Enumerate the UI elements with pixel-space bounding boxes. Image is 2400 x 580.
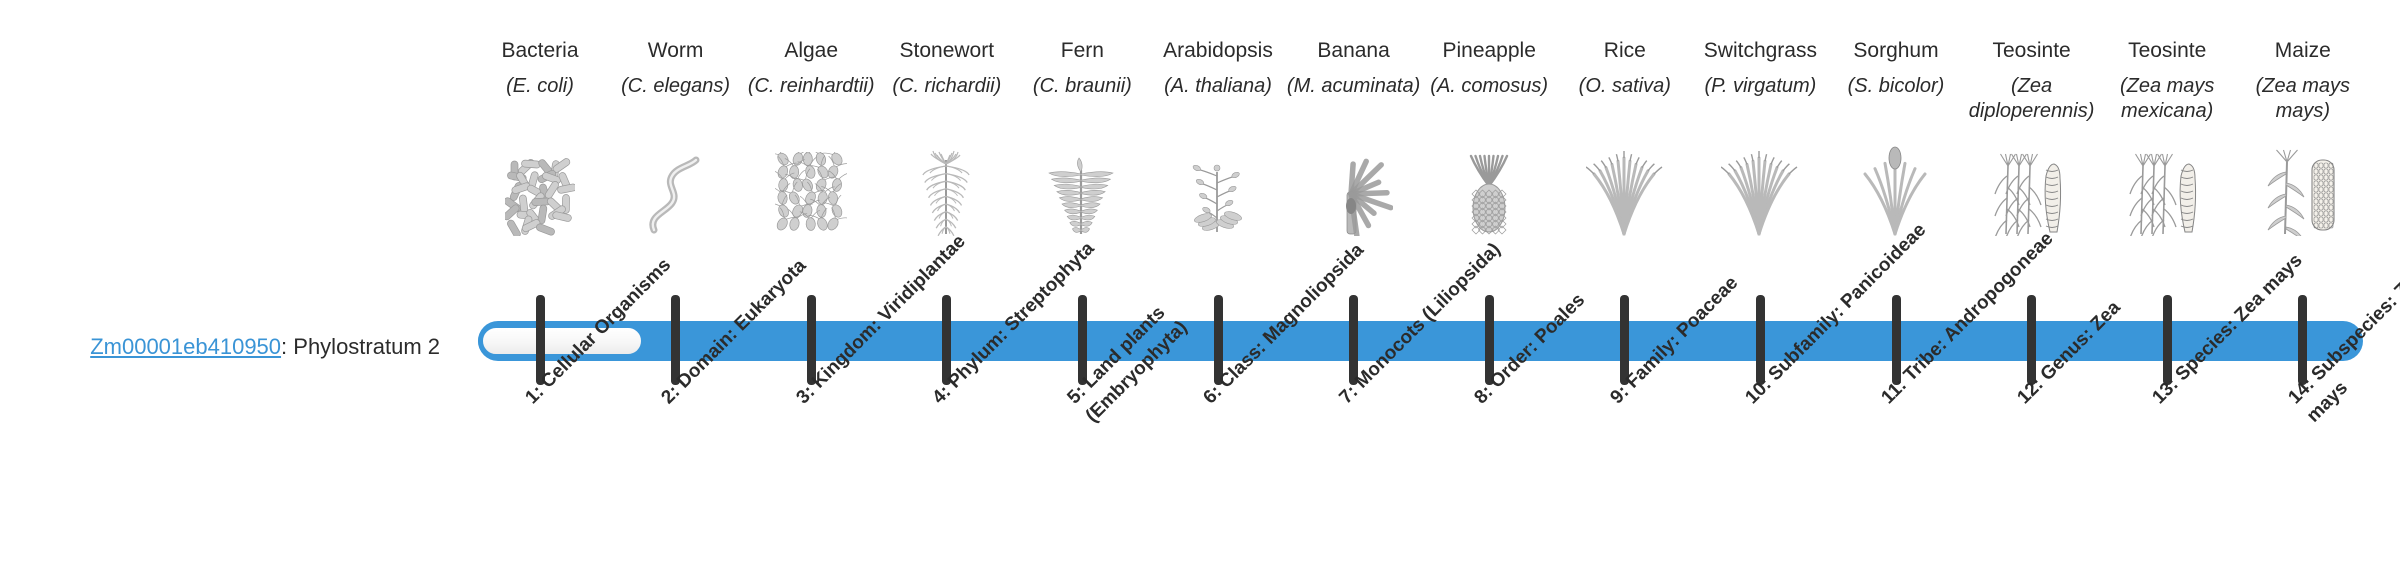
- phylostratum-taxon: Zea mays: [2231, 250, 2307, 326]
- species-column-teosinte-12: Teosinte(Zea diploperennis): [1964, 38, 2100, 124]
- nematode-worm-illustration: [608, 150, 744, 236]
- species-latin-name: (C. reinhardtii): [743, 74, 879, 99]
- species-latin-name: (C. elegans): [608, 74, 744, 99]
- species-latin-name: (Zea mays mexicana): [2099, 74, 2235, 124]
- species-common-name: Arabidopsis: [1150, 38, 1286, 64]
- species-latin-name: (Zea mays mays): [2235, 74, 2371, 124]
- species-common-name: Teosinte: [1964, 38, 2100, 64]
- species-column-arabidopsis-6: Arabidopsis(A. thaliana): [1150, 38, 1286, 99]
- species-column-banana-7: Banana(M. acuminata): [1286, 38, 1422, 99]
- species-column-maize-14: Maize(Zea mays mays): [2235, 38, 2371, 124]
- species-latin-name: (S. bicolor): [1828, 74, 1964, 99]
- species-common-name: Worm: [608, 38, 744, 64]
- switchgrass-illustration: [1692, 150, 1828, 236]
- species-column-pineapple-8: Pineapple(A. comosus): [1421, 38, 1557, 99]
- phylostratum-number: 11:: [1877, 375, 1911, 409]
- species-common-name: Sorghum: [1828, 38, 1964, 64]
- maize-illustration: [2235, 150, 2371, 236]
- species-column-teosinte-13: Teosinte(Zea mays mexicana): [2099, 38, 2235, 124]
- gene-label-separator: :: [281, 334, 293, 359]
- teosinte-diploperennis-illustration: [1964, 150, 2100, 236]
- banana-plant-illustration: [1286, 150, 1422, 236]
- phylostratum-taxon: Viridiplantae: [875, 231, 970, 326]
- species-latin-name: (E. coli): [472, 74, 608, 99]
- species-common-name: Stonewort: [879, 38, 1015, 64]
- species-common-name: Fern: [1014, 38, 1150, 64]
- species-common-name: Bacteria: [472, 38, 608, 64]
- gene-label: Zm00001eb410950: Phylostratum 2: [40, 333, 440, 361]
- species-latin-name: (O. sativa): [1557, 74, 1693, 99]
- species-common-name: Maize: [2235, 38, 2371, 64]
- species-common-name: Rice: [1557, 38, 1693, 64]
- species-common-name: Teosinte: [2099, 38, 2235, 64]
- algae-cells-illustration: [743, 150, 879, 236]
- species-common-name: Banana: [1286, 38, 1422, 64]
- phylostratum-figure: Zm00001eb410950: Phylostratum 2 Bacteria…: [0, 0, 2400, 580]
- phylostratum-number: 10:: [1742, 374, 1776, 408]
- teosinte-mexicana-illustration: [2099, 150, 2235, 236]
- species-column-switchgrass-10: Switchgrass(P. virgatum): [1692, 38, 1828, 99]
- gene-id-link[interactable]: Zm00001eb410950: [90, 334, 281, 359]
- species-column-worm-2: Worm(C. elegans): [608, 38, 744, 99]
- pineapple-illustration: [1421, 150, 1557, 236]
- arabidopsis-illustration: [1150, 150, 1286, 236]
- species-column-sorghum-11: Sorghum(S. bicolor): [1828, 38, 1964, 99]
- species-latin-name: (C. braunii): [1014, 74, 1150, 99]
- species-column-algae-3: Algae(C. reinhardtii): [743, 38, 879, 99]
- species-common-name: Pineapple: [1421, 38, 1557, 64]
- species-column-fern-5: Fern(C. braunii): [1014, 38, 1150, 99]
- species-common-name: Algae: [743, 38, 879, 64]
- phylostratum-number: 12:: [2013, 374, 2047, 408]
- species-latin-name: (P. virgatum): [1692, 74, 1828, 99]
- species-column-stonewort-4: Stonewort(C. richardii): [879, 38, 1015, 99]
- fern-illustration: [1014, 150, 1150, 236]
- species-latin-name: (Zea diploperennis): [1964, 74, 2100, 124]
- species-latin-name: (M. acuminata): [1286, 74, 1422, 99]
- species-common-name: Switchgrass: [1692, 38, 1828, 64]
- species-column-rice-9: Rice(O. sativa): [1557, 38, 1693, 99]
- species-latin-name: (A. thaliana): [1150, 74, 1286, 99]
- species-column-bacteria-1: Bacteria(E. coli): [472, 38, 608, 99]
- phylostratum-value: Phylostratum 2: [293, 334, 440, 359]
- stonewort-illustration: [879, 150, 1015, 236]
- bacteria-illustration: [472, 150, 608, 236]
- species-latin-name: (A. comosus): [1421, 74, 1557, 99]
- sorghum-illustration: [1828, 150, 1964, 236]
- rice-plant-illustration: [1557, 150, 1693, 236]
- species-latin-name: (C. richardii): [879, 74, 1015, 99]
- phylostratum-number: 13:: [2149, 374, 2183, 408]
